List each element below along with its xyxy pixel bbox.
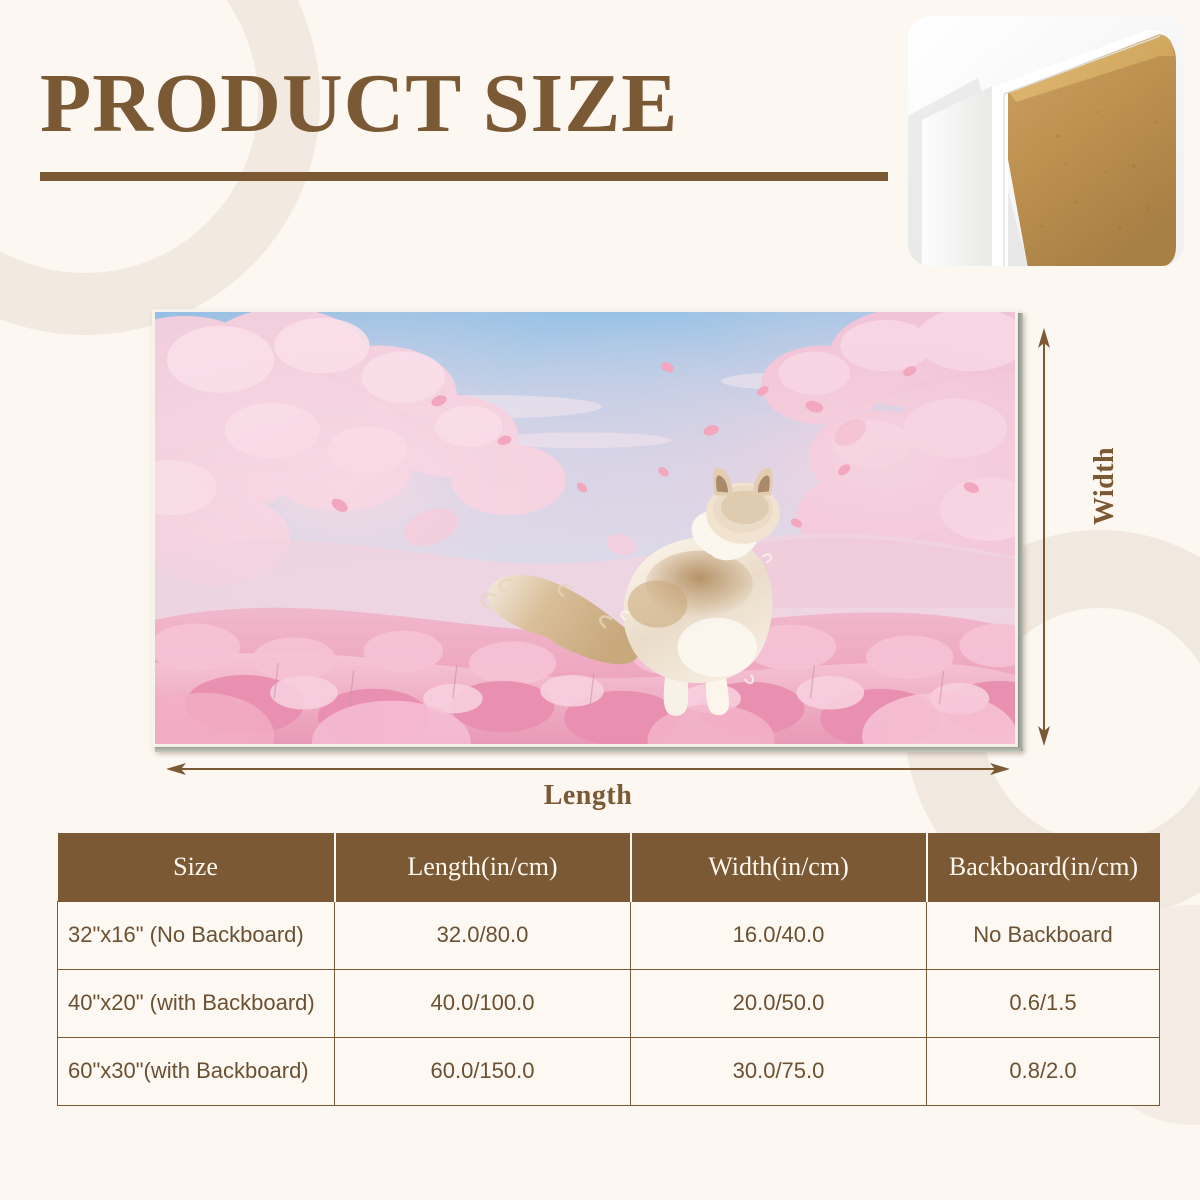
product-size-infographic: PRODUCT SIZE	[0, 0, 1200, 1200]
canvas-frame-corner-photo	[908, 16, 1184, 266]
title-block: PRODUCT SIZE	[40, 62, 900, 181]
cherry-blossom-cat-artwork	[155, 312, 1015, 744]
cell-size: 40"x20" (with Backboard)	[58, 969, 335, 1037]
cell-length: 32.0/80.0	[335, 901, 631, 969]
size-specification-table: Size Length(in/cm) Width(in/cm) Backboar…	[57, 833, 1160, 1106]
page-title: PRODUCT SIZE	[40, 62, 900, 146]
table-row: 32"x16" (No Backboard) 32.0/80.0 16.0/40…	[58, 901, 1160, 969]
cell-size: 32"x16" (No Backboard)	[58, 901, 335, 969]
canvas-bottom-edge	[155, 747, 1021, 752]
column-header-length: Length(in/cm)	[335, 833, 631, 901]
cell-length: 40.0/100.0	[335, 969, 631, 1037]
cell-width: 16.0/40.0	[631, 901, 927, 969]
cell-width: 30.0/75.0	[631, 1037, 927, 1105]
canvas-artwork-preview	[152, 309, 1018, 747]
width-label: Width	[1089, 421, 1121, 551]
cell-backboard: 0.6/1.5	[927, 969, 1160, 1037]
column-header-width: Width(in/cm)	[631, 833, 927, 901]
cell-width: 20.0/50.0	[631, 969, 927, 1037]
table-row: 40"x20" (with Backboard) 40.0/100.0 20.0…	[58, 969, 1160, 1037]
cell-backboard: No Backboard	[927, 901, 1160, 969]
table-header-row: Size Length(in/cm) Width(in/cm) Backboar…	[58, 833, 1160, 901]
cell-size: 60"x30"(with Backboard)	[58, 1037, 335, 1105]
canvas-right-edge	[1018, 313, 1023, 751]
length-dimension-arrow	[166, 757, 1010, 781]
column-header-size: Size	[58, 833, 335, 901]
title-underline-rule	[40, 172, 888, 181]
table-row: 60"x30"(with Backboard) 60.0/150.0 30.0/…	[58, 1037, 1160, 1105]
cell-backboard: 0.8/2.0	[927, 1037, 1160, 1105]
column-header-backboard: Backboard(in/cm)	[927, 833, 1160, 901]
length-label: Length	[166, 780, 1010, 812]
width-dimension-arrow	[1032, 328, 1056, 746]
cell-length: 60.0/150.0	[335, 1037, 631, 1105]
